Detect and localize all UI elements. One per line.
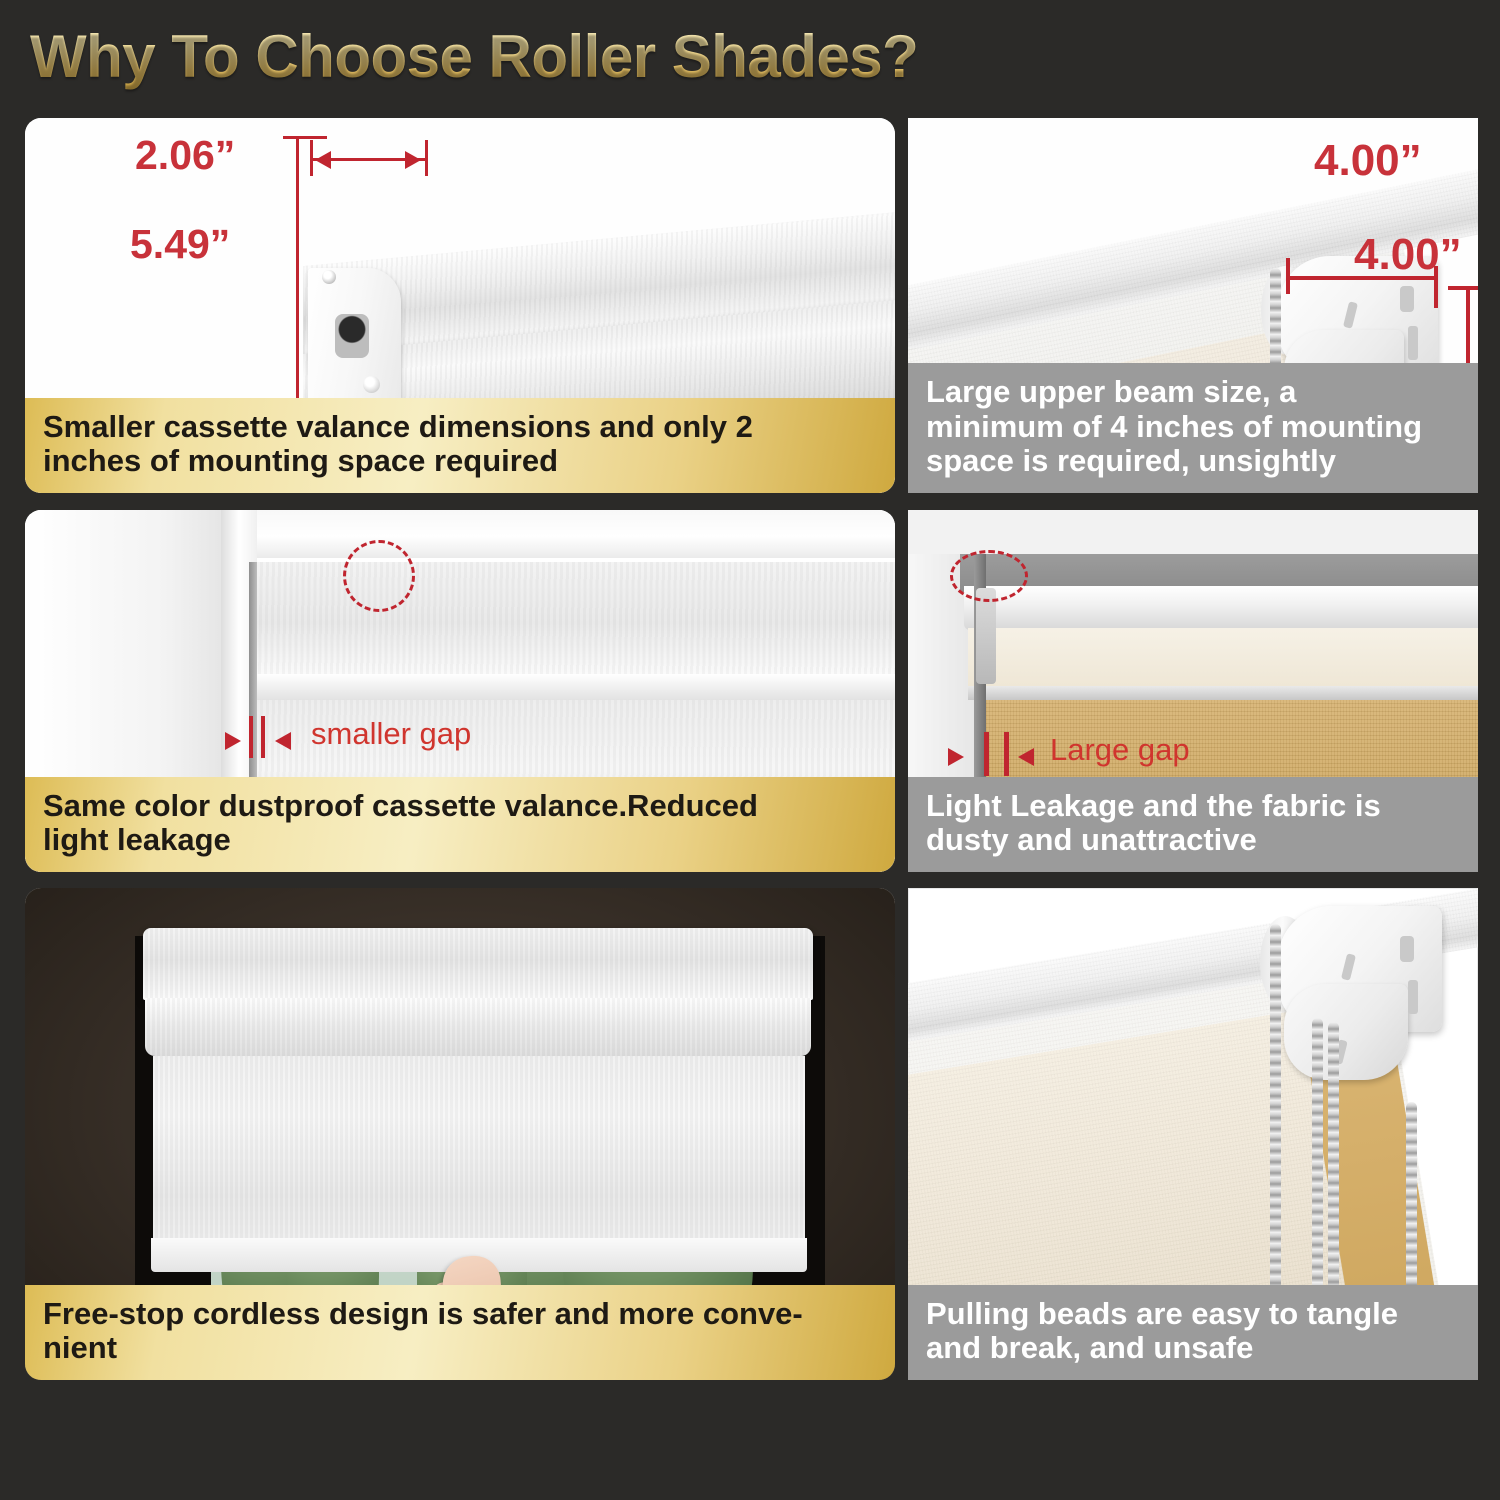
gap-arrow-left xyxy=(1018,748,1034,766)
width-dim-tick-right xyxy=(425,140,428,176)
beam-width-label: 4.00” xyxy=(1314,136,1422,186)
gap-arrow-right xyxy=(225,732,241,750)
panel-large-beam: 4.00” 4.00” Large upper beam size, a min… xyxy=(908,118,1478,493)
height-dim-label: 5.49” xyxy=(130,221,230,268)
width-dim-arrow-right xyxy=(405,151,421,169)
caption-line: Smaller cassette valance dimensions and … xyxy=(43,410,879,445)
caption-line: inches of mounting space required xyxy=(43,444,879,479)
caption-line: nient xyxy=(43,1331,879,1366)
panel-3-caption: Same color dustproof cassette valance.Re… xyxy=(25,777,895,872)
caption-line: Free-stop cordless design is safer and m… xyxy=(43,1297,879,1332)
panel-light-leakage: Large gap Light Leakage and the fabric i… xyxy=(908,510,1478,872)
width-dim-label: 2.06” xyxy=(135,132,235,179)
caption-line: Same color dustproof cassette valance.Re… xyxy=(43,789,879,824)
gap-label: Large gap xyxy=(1050,732,1190,768)
caption-line: light leakage xyxy=(43,823,879,858)
width-dim-arrow-left xyxy=(315,151,331,169)
caption-line: dusty and unattractive xyxy=(926,823,1462,858)
panel-dustproof-valance: smaller gap Same color dustproof cassett… xyxy=(25,510,895,872)
page-title: Why To Choose Roller Shades? xyxy=(30,22,918,91)
caption-line: Large upper beam size, a xyxy=(926,375,1462,410)
gap-label: smaller gap xyxy=(311,716,471,752)
panel-smaller-cassette: 2.06” 5.49” Smaller cassette valance dim… xyxy=(25,118,895,493)
highlight-circle xyxy=(950,550,1028,602)
gap-bar-right xyxy=(261,716,265,758)
gap-arrow-left xyxy=(275,732,291,750)
height-dim-tick-top xyxy=(283,136,327,139)
gap-bar-left xyxy=(984,732,989,776)
panel-4-caption: Light Leakage and the fabric is dusty an… xyxy=(908,777,1478,872)
caption-line: minimum of 4 inches of mounting xyxy=(926,410,1462,445)
gap-bar-right xyxy=(1004,732,1009,776)
panel-1-caption: Smaller cassette valance dimensions and … xyxy=(25,398,895,493)
beam-height-label: 4.00” xyxy=(1354,230,1462,280)
panel-5-caption: Free-stop cordless design is safer and m… xyxy=(25,1285,895,1380)
infographic-root: Why To Choose Roller Shades? 2.06” 5.49” xyxy=(0,0,1500,1500)
beam-width-tick-left xyxy=(1286,258,1290,294)
caption-line: space is required, unsightly xyxy=(926,444,1462,479)
gap-bar-left xyxy=(249,716,253,758)
panel-cordless-design: Free-stop cordless design is safer and m… xyxy=(25,888,895,1380)
caption-line: Light Leakage and the fabric is xyxy=(926,789,1462,824)
highlight-circle xyxy=(343,540,415,612)
width-dim-tick-left xyxy=(310,140,313,176)
caption-line: Pulling beads are easy to tangle xyxy=(926,1297,1462,1332)
caption-line: and break, and unsafe xyxy=(926,1331,1462,1366)
panel-2-caption: Large upper beam size, a minimum of 4 in… xyxy=(908,363,1478,493)
gap-arrow-right xyxy=(948,748,964,766)
panel-6-caption: Pulling beads are easy to tangle and bre… xyxy=(908,1285,1478,1380)
panel-pulling-beads: Pulling beads are easy to tangle and bre… xyxy=(908,888,1478,1380)
beam-height-tick-top xyxy=(1448,286,1478,290)
